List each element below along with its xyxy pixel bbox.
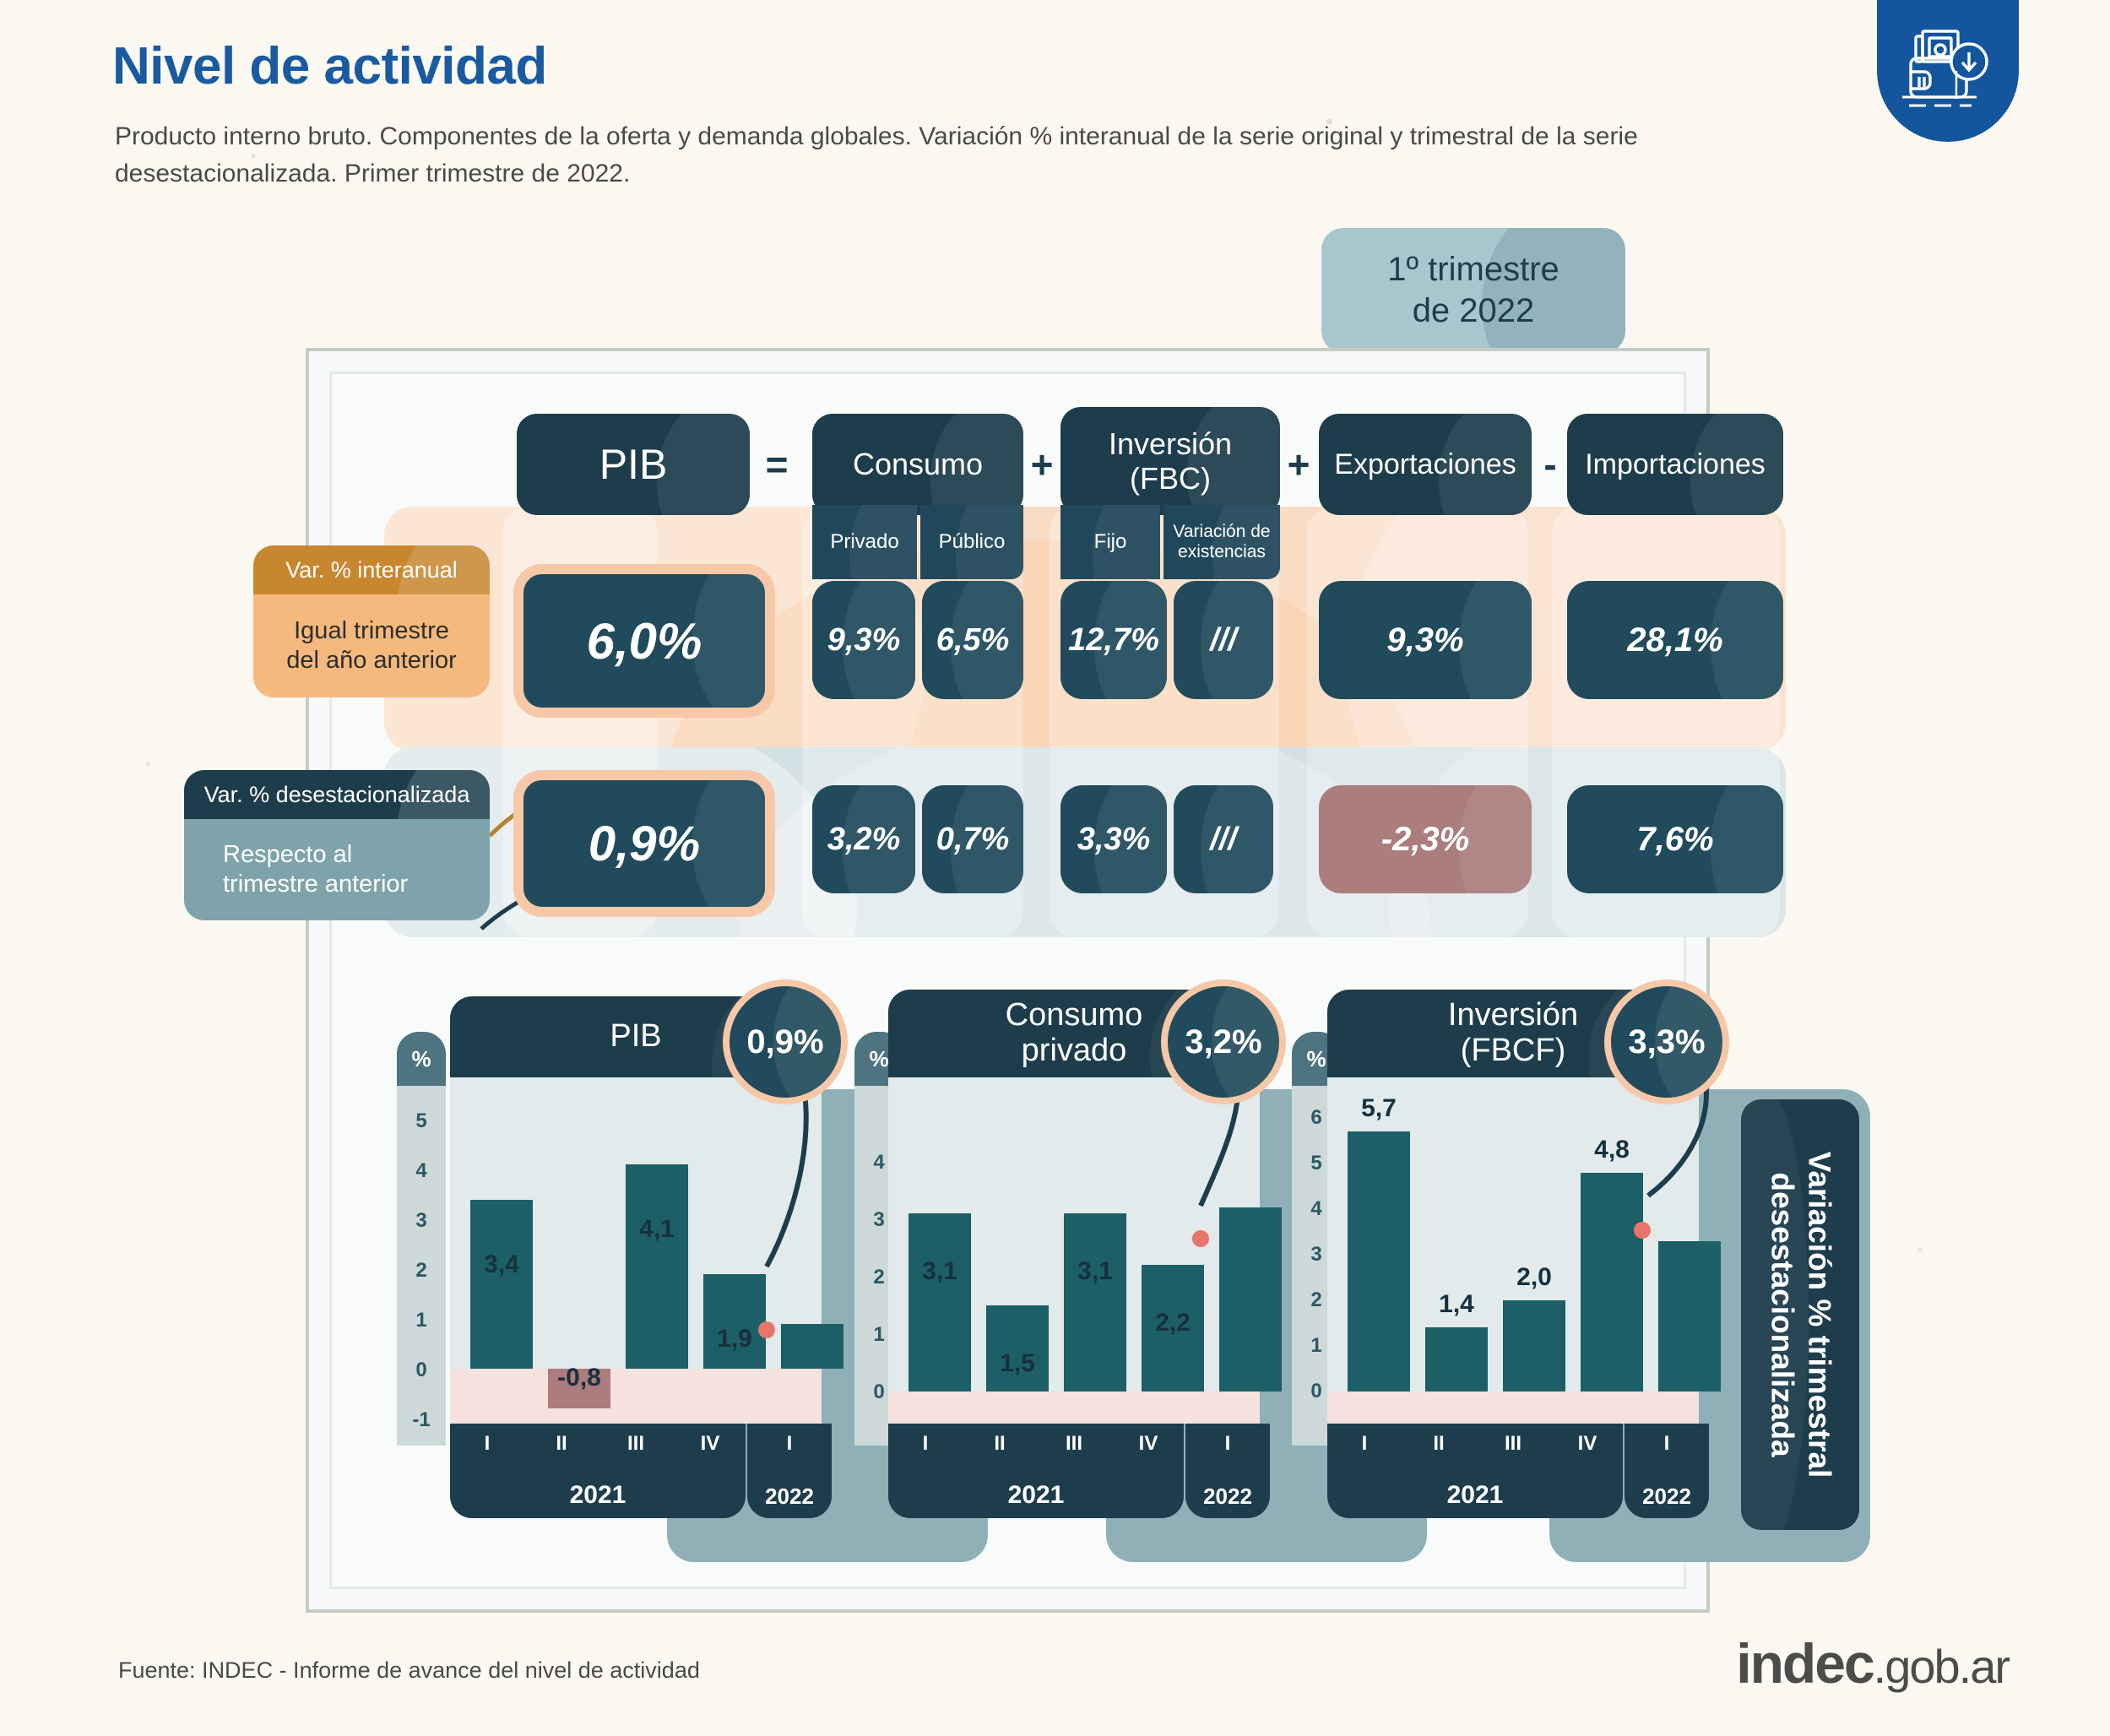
chart-consumo-bar-3: [1064, 1213, 1126, 1392]
subheader-consumo-privado: Privado: [812, 505, 917, 579]
chart-consumo-label-1: 3,1: [888, 1257, 991, 1286]
value-consumo-privado-desest: 3,2%: [812, 785, 915, 893]
chart-inversion-label-2: 1,4: [1405, 1290, 1508, 1319]
row-caption-interanual: Igual trimestre del año anterior: [253, 594, 490, 697]
chart-pib-highlight-bubble: 0,9%: [723, 979, 848, 1104]
indec-logo-suffix: .gob.ar: [1874, 1640, 2009, 1693]
chart-inversion-label-4: 4,8: [1560, 1136, 1663, 1164]
row-label-desestacionalizada: Var. % desestacionalizada Respecto al tr…: [184, 770, 490, 920]
value-consumo-publico-desest: 0,7%: [922, 785, 1023, 893]
header-exportaciones: Exportaciones: [1319, 414, 1532, 515]
value-pib-interanual: 6,0%: [513, 564, 775, 718]
value-inversion-fijo-interanual: 12,7%: [1060, 581, 1167, 699]
chart-inversion-bar-5: [1658, 1241, 1721, 1392]
chart-inversion-xtick-5: I: [1625, 1432, 1709, 1456]
chart-pib-axis-unit: %: [397, 1032, 446, 1086]
chart-inversion-xtick-4: IV: [1550, 1432, 1625, 1456]
chart-consumo-highlight-dot: [1192, 1230, 1209, 1247]
chart-consumo-bar-2: [986, 1305, 1049, 1392]
chart-pib-bar-5: [781, 1324, 843, 1369]
charts-vertical-banner: Variación % trimestral desestacionalizad…: [1741, 1099, 1859, 1530]
chart-inversion-xtick-1: I: [1327, 1432, 1402, 1456]
chart-pib-tick-5: 5: [397, 1109, 446, 1133]
source-note: Fuente: INDEC - Informe de avance del ni…: [118, 1657, 700, 1684]
operator-plus-1: +: [1025, 414, 1059, 515]
chart-inversion-xtick-2: II: [1402, 1432, 1476, 1456]
chart-pib-tick-1: 1: [397, 1309, 446, 1332]
value-importaciones-interanual: 28,1%: [1567, 581, 1783, 699]
chart-pib-xtick-2: II: [524, 1432, 599, 1456]
value-inversion-fijo-desest: 3,3%: [1060, 785, 1167, 893]
chart-pib-label-3: 4,1: [605, 1215, 708, 1244]
row-caption-desestacionalizada: Respecto al trimestre anterior: [184, 819, 490, 920]
chart-inversion-bar-3: [1503, 1300, 1565, 1392]
chart-consumo-label-4: 2,2: [1121, 1309, 1224, 1337]
chart-consumo-xaxis: I II III IV 2021: [888, 1424, 1184, 1518]
chart-inversion-highlight-dot: [1634, 1222, 1651, 1239]
chart-pib-xtick-1: I: [450, 1432, 524, 1456]
chart-pib-xaxis: I II III IV 2021: [450, 1424, 746, 1518]
operator-equals: =: [757, 414, 797, 515]
chart-pib-tick-4: 4: [397, 1159, 446, 1183]
chart-pib-bar-1: [470, 1200, 533, 1369]
chart-consumo-xaxis-2022: I 2022: [1185, 1424, 1270, 1518]
header-inversion-line2: (FBC): [1130, 461, 1211, 496]
chart-pib-year-2022: 2022: [747, 1484, 832, 1510]
chart-consumo-xtick-3: III: [1037, 1432, 1111, 1456]
chart-inversion-negative-zone: [1327, 1392, 1699, 1424]
header-inversion: Inversión (FBC): [1060, 407, 1280, 515]
subheader-inversion-fijo: Fijo: [1060, 505, 1160, 579]
chart-consumo-year-2021: 2021: [888, 1481, 1184, 1510]
wallet-money-download-icon: [1877, 0, 2019, 142]
chart-pib-xtick-3: III: [599, 1432, 673, 1456]
quarter-badge-line1: 1º trimestre: [1387, 251, 1559, 288]
chart-pib-label-1: 3,4: [450, 1250, 553, 1279]
value-consumo-privado-interanual: 9,3%: [812, 581, 915, 699]
chart-consumo-bar-5: [1219, 1207, 1282, 1392]
chart-pib-tick-3: 3: [397, 1209, 446, 1233]
value-consumo-publico-interanual: 6,5%: [922, 581, 1023, 699]
chart-pib-xtick-4: IV: [673, 1432, 747, 1456]
row-label-interanual: Var. % interanual Igual trimestre del añ…: [253, 545, 490, 697]
operator-minus: -: [1533, 414, 1567, 515]
chart-inversion-xtick-3: III: [1476, 1432, 1550, 1456]
chart-pib-label-2: -0,8: [528, 1364, 631, 1392]
header-inversion-line1: Inversión: [1109, 426, 1232, 461]
quarter-badge-line2: de 2022: [1413, 292, 1535, 329]
value-exportaciones-desest: -2,3%: [1319, 785, 1532, 893]
chart-pib-tick-0: 0: [397, 1359, 446, 1382]
subheader-consumo-publico: Público: [920, 505, 1023, 579]
indec-logo: indec.gob.ar: [1736, 1631, 2009, 1695]
chart-inversion-highlight-bubble: 3,3%: [1604, 979, 1729, 1104]
chart-pib-highlight-dot: [758, 1321, 775, 1338]
chart-consumo-label-2: 1,5: [966, 1349, 1069, 1378]
chart-consumo-xtick-2: II: [963, 1432, 1037, 1456]
chart-consumo-xtick-1: I: [888, 1432, 963, 1456]
chart-inversion-xaxis: I II III IV 2021: [1327, 1424, 1623, 1518]
chart-consumo-bar-1: [909, 1213, 971, 1392]
chart-pib-bar-4: [703, 1274, 766, 1369]
chart-inversion-bar-2: [1425, 1327, 1488, 1392]
chart-inversion-plot: [1327, 1077, 1699, 1424]
chart-consumo-plot: [888, 1077, 1260, 1424]
chart-pib-negative-zone: [450, 1369, 822, 1424]
subheader-inversion-existencias: Variación de existencias: [1163, 505, 1280, 579]
chart-pib-bar-3: [626, 1164, 688, 1369]
chart-pib-axis: %: [397, 1032, 446, 1446]
chart-inversion-bar-4: [1581, 1173, 1643, 1392]
chart-inversion-bar-1: [1348, 1131, 1410, 1392]
value-importaciones-desest: 7,6%: [1567, 785, 1783, 893]
page-title: Nivel de actividad: [112, 41, 547, 93]
charts-vertical-banner-text: Variación % trimestral desestacionalizad…: [1763, 1104, 1838, 1526]
chart-pib-tick-2: 2: [397, 1259, 446, 1283]
value-inversion-existencias-desest: ///: [1174, 785, 1273, 893]
quarter-badge: 1º trimestre de 2022: [1321, 228, 1625, 353]
header-importaciones: Importaciones: [1567, 414, 1783, 515]
chart-inversion-label-3: 2,0: [1483, 1263, 1586, 1292]
chart-consumo-highlight-bubble: 3,2%: [1161, 979, 1286, 1104]
chart-pib-tick-neg1: -1: [397, 1408, 446, 1432]
chart-pib-xaxis-2022: I 2022: [747, 1424, 832, 1518]
chart-consumo-xtick-4: IV: [1111, 1432, 1185, 1456]
value-inversion-existencias-interanual: ///: [1174, 581, 1273, 699]
chart-pib-xtick-5: I: [747, 1432, 832, 1456]
chart-consumo-label-3: 3,1: [1044, 1257, 1147, 1286]
indec-logo-main: indec: [1736, 1632, 1873, 1695]
chart-pib-year-2021: 2021: [450, 1481, 746, 1510]
chart-inversion-xaxis-2022: I 2022: [1625, 1424, 1709, 1518]
operator-plus-2: +: [1282, 414, 1315, 515]
chart-consumo-xtick-5: I: [1185, 1432, 1270, 1456]
chart-inversion-year-2022: 2022: [1625, 1484, 1709, 1510]
chart-inversion-year-2021: 2021: [1327, 1481, 1623, 1510]
header-consumo: Consumo: [812, 414, 1023, 515]
value-exportaciones-interanual: 9,3%: [1319, 581, 1532, 699]
header-pib: PIB: [517, 414, 750, 515]
value-pib-desestacionalizada: 0,9%: [513, 770, 775, 917]
chart-inversion-label-1: 5,7: [1327, 1094, 1430, 1123]
page-subtitle: Producto interno bruto. Componentes de l…: [115, 118, 1719, 192]
chart-consumo-year-2022: 2022: [1185, 1484, 1270, 1510]
chart-consumo-negative-zone: [888, 1392, 1260, 1424]
